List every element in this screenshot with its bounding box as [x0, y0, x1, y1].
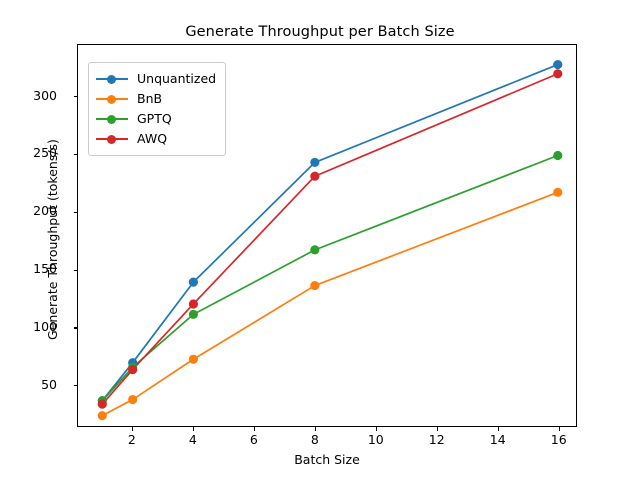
data-point [98, 411, 107, 420]
legend: UnquantizedBnBGPTQAWQ [88, 62, 226, 156]
legend-marker-icon [96, 92, 128, 106]
x-tick-mark [132, 427, 133, 431]
x-tick-mark [193, 427, 194, 431]
legend-item-gptq[interactable]: GPTQ [96, 109, 216, 129]
y-tick-mark [74, 270, 78, 271]
data-point [553, 188, 562, 197]
x-tick-label: 16 [539, 434, 579, 447]
data-point [553, 151, 562, 160]
x-tick-label: 8 [295, 434, 335, 447]
x-tick-label: 12 [417, 434, 457, 447]
data-point [189, 310, 198, 319]
data-point [310, 281, 319, 290]
legend-item-unquantized[interactable]: Unquantized [96, 69, 216, 89]
y-tick-label: 50 [0, 379, 57, 392]
data-point [553, 69, 562, 78]
data-point [128, 395, 137, 404]
legend-marker-icon [96, 112, 128, 126]
x-tick-mark [315, 427, 316, 431]
series-line-gptq [102, 156, 557, 401]
legend-item-bnb[interactable]: BnB [96, 89, 216, 109]
data-point [189, 278, 198, 287]
y-tick-mark [74, 154, 78, 155]
data-point [98, 400, 107, 409]
data-point [310, 158, 319, 167]
y-tick-mark [74, 327, 78, 328]
x-tick-label: 4 [173, 434, 213, 447]
x-axis-label: Batch Size [77, 452, 577, 467]
legend-label: GPTQ [137, 112, 172, 126]
y-tick-label: 250 [0, 147, 57, 160]
x-tick-mark [559, 427, 560, 431]
data-point [189, 299, 198, 308]
x-tick-label: 10 [356, 434, 396, 447]
legend-label: AWQ [137, 132, 167, 146]
y-tick-label: 150 [0, 263, 57, 276]
data-point [189, 355, 198, 364]
data-point [553, 60, 562, 69]
matplotlib-figure: Generate Throughput per Batch Size Gener… [0, 0, 640, 480]
x-tick-mark [498, 427, 499, 431]
x-tick-mark [254, 427, 255, 431]
data-point [310, 172, 319, 181]
data-point [128, 365, 137, 374]
legend-marker-icon [96, 132, 128, 146]
y-tick-label: 300 [0, 90, 57, 103]
legend-label: BnB [137, 92, 162, 106]
x-tick-label: 6 [234, 434, 274, 447]
x-tick-mark [376, 427, 377, 431]
data-point [310, 245, 319, 254]
y-tick-label: 200 [0, 205, 57, 218]
legend-marker-icon [96, 72, 128, 86]
y-tick-mark [74, 385, 78, 386]
y-tick-label: 100 [0, 321, 57, 334]
legend-label: Unquantized [137, 72, 216, 86]
y-tick-mark [74, 96, 78, 97]
y-tick-mark [74, 212, 78, 213]
x-tick-mark [437, 427, 438, 431]
x-tick-label: 14 [478, 434, 518, 447]
y-axis-label: Generate Throughput (tokens/s) [45, 48, 60, 431]
series-line-bnb [102, 192, 557, 415]
x-tick-label: 2 [112, 434, 152, 447]
legend-item-awq[interactable]: AWQ [96, 129, 216, 149]
chart-title: Generate Throughput per Batch Size [0, 24, 640, 40]
